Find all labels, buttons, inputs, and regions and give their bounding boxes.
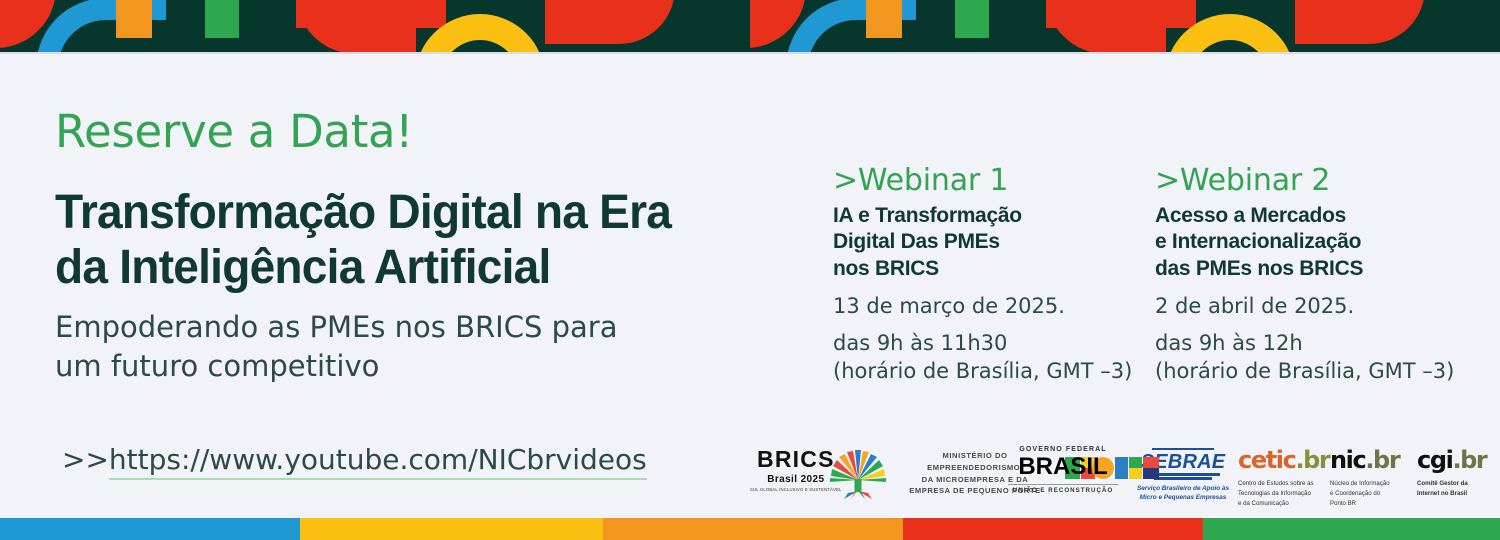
brasil-wordmark: BRASIL bbox=[1013, 455, 1113, 481]
webinar-1-title-line-3: nos BRICS bbox=[833, 256, 1143, 282]
sponsor-logo-row: BRICS Brasil 2025 SUL GLOBAL INCLUSIVO E… bbox=[745, 438, 1490, 504]
nic-word: nic bbox=[1330, 446, 1365, 474]
banner-shape-red-right bbox=[545, 0, 675, 44]
banner-shape-red-bar bbox=[1046, 0, 1196, 28]
cgi-tagline-1: Comitê Gestor da bbox=[1417, 479, 1500, 489]
cetic-word: cetic bbox=[1238, 446, 1295, 474]
webinar-2-title-line-2: e Internacionalização bbox=[1155, 229, 1465, 255]
banner-divider bbox=[0, 52, 1500, 54]
webinar-2-timezone: (horário de Brasília, GMT –3) bbox=[1155, 358, 1465, 386]
cgi-suffix: .br bbox=[1452, 446, 1486, 474]
governo-federal-logo: GOVERNO FEDERAL BRASIL UNIÃO E RECONSTRU… bbox=[1008, 446, 1118, 494]
nic-tagline: Núcleo de Informação e Coordenação do Po… bbox=[1330, 479, 1426, 508]
webinar-1-date: 13 de março de 2025. bbox=[833, 291, 1143, 321]
webinar-2-title-line-1: Acesso a Mercados bbox=[1155, 203, 1465, 229]
url-prefix: >> bbox=[62, 443, 109, 476]
ministry-tree-emblem-icon bbox=[827, 440, 889, 500]
webinar-2-time: das 9h às 12h (horário de Brasília, GMT … bbox=[1155, 330, 1465, 385]
strip-segment-red bbox=[903, 518, 1203, 540]
strip-segment-yellow bbox=[300, 518, 603, 540]
webinar-1-time-line-1: das 9h às 11h30 bbox=[833, 330, 1143, 358]
cgi-wordmark: cgi.br bbox=[1417, 448, 1500, 472]
webinar-1-title: IA e Transformação Digital Das PMEs nos … bbox=[833, 203, 1143, 282]
banner-shape-green-square bbox=[955, 0, 989, 38]
page-title-line-2: da Inteligência Artificial bbox=[55, 241, 823, 296]
webinar-1-title-line-2: Digital Das PMEs bbox=[833, 229, 1143, 255]
strip-segment-blue bbox=[0, 518, 300, 540]
webinar-card-2: >Webinar 2 Acesso a Mercados e Internaci… bbox=[1155, 163, 1465, 385]
cgi-tagline: Comitê Gestor da Internet no Brasil bbox=[1417, 479, 1500, 499]
page-subtitle: Empoderando as PMEs nos BRICS para um fu… bbox=[55, 308, 715, 385]
page-title: Transformação Digital na Era da Inteligê… bbox=[55, 186, 823, 295]
cgi-tagline-2: Internet no Brasil bbox=[1417, 489, 1500, 499]
webinar-2-title: Acesso a Mercados e Internacionalização … bbox=[1155, 203, 1465, 282]
webinar-2-title-line-3: das PMEs nos BRICS bbox=[1155, 256, 1465, 282]
nic-wordmark: nic.br bbox=[1330, 448, 1426, 472]
webinar-1-title-line-1: IA e Transformação bbox=[833, 203, 1143, 229]
strip-segment-green bbox=[1203, 518, 1500, 540]
bottom-color-strip bbox=[0, 518, 1500, 540]
sebrae-tagline-1: Serviço Brasileiro de Apoio às bbox=[1128, 484, 1238, 493]
brasil-word: BRASIL bbox=[1013, 455, 1113, 479]
nic-tagline-3: Ponto BR bbox=[1330, 499, 1426, 509]
governo-federal-label: GOVERNO FEDERAL bbox=[1008, 446, 1118, 453]
webinar-1-heading: >Webinar 1 bbox=[833, 163, 1143, 198]
banner-shape-green-square bbox=[205, 0, 239, 38]
kicker-text: Reserve a Data! bbox=[55, 105, 413, 158]
uniao-reconstrucao-label: UNIÃO E RECONSTRUÇÃO bbox=[1008, 484, 1118, 494]
strip-segment-orange bbox=[603, 518, 903, 540]
top-decorative-banner bbox=[0, 0, 1500, 52]
banner-motif bbox=[750, 0, 1500, 52]
webinar-2-date: 2 de abril de 2025. bbox=[1155, 291, 1465, 321]
banner-shape-blue-v bbox=[716, 0, 750, 52]
youtube-link[interactable]: >>https://www.youtube.com/NICbrvideos bbox=[62, 443, 647, 476]
banner-motif bbox=[0, 0, 750, 52]
webinar-1-timezone: (horário de Brasília, GMT –3) bbox=[833, 358, 1143, 386]
cetic-suffix: .br bbox=[1295, 446, 1329, 474]
cgi-br-logo: cgi.br Comitê Gestor da Internet no Bras… bbox=[1417, 448, 1500, 499]
banner-shape-red-bar bbox=[296, 0, 446, 28]
banner-pattern-strip bbox=[0, 0, 1500, 52]
nic-tagline-2: e Coordenação do bbox=[1330, 489, 1426, 499]
banner-shape-red-right bbox=[1295, 0, 1425, 44]
cgi-word: cgi bbox=[1417, 446, 1452, 474]
page-subtitle-line-2: um futuro competitivo bbox=[55, 347, 715, 386]
banner-shape-blue-v bbox=[1466, 0, 1500, 52]
page-title-line-1: Transformação Digital na Era bbox=[55, 186, 823, 241]
webinar-2-time-line-1: das 9h às 12h bbox=[1155, 330, 1465, 358]
sebrae-bar-top bbox=[1152, 448, 1214, 451]
webinar-1-time: das 9h às 11h30 (horário de Brasília, GM… bbox=[833, 330, 1143, 385]
nic-suffix: .br bbox=[1365, 446, 1399, 474]
banner-shape-orange-square bbox=[116, 0, 152, 38]
url-text[interactable]: https://www.youtube.com/NICbrvideos bbox=[109, 443, 647, 480]
nic-br-logo: nic.br Núcleo de Informação e Coordenaçã… bbox=[1330, 448, 1426, 508]
webinar-2-heading: >Webinar 2 bbox=[1155, 163, 1465, 198]
webinar-card-1: >Webinar 1 IA e Transformação Digital Da… bbox=[833, 163, 1143, 385]
banner-shape-orange-square bbox=[866, 0, 902, 38]
sebrae-tagline-2: Micro e Pequenas Empresas bbox=[1128, 493, 1238, 502]
page-subtitle-line-1: Empoderando as PMEs nos BRICS para bbox=[55, 308, 715, 347]
nic-tagline-1: Núcleo de Informação bbox=[1330, 479, 1426, 489]
